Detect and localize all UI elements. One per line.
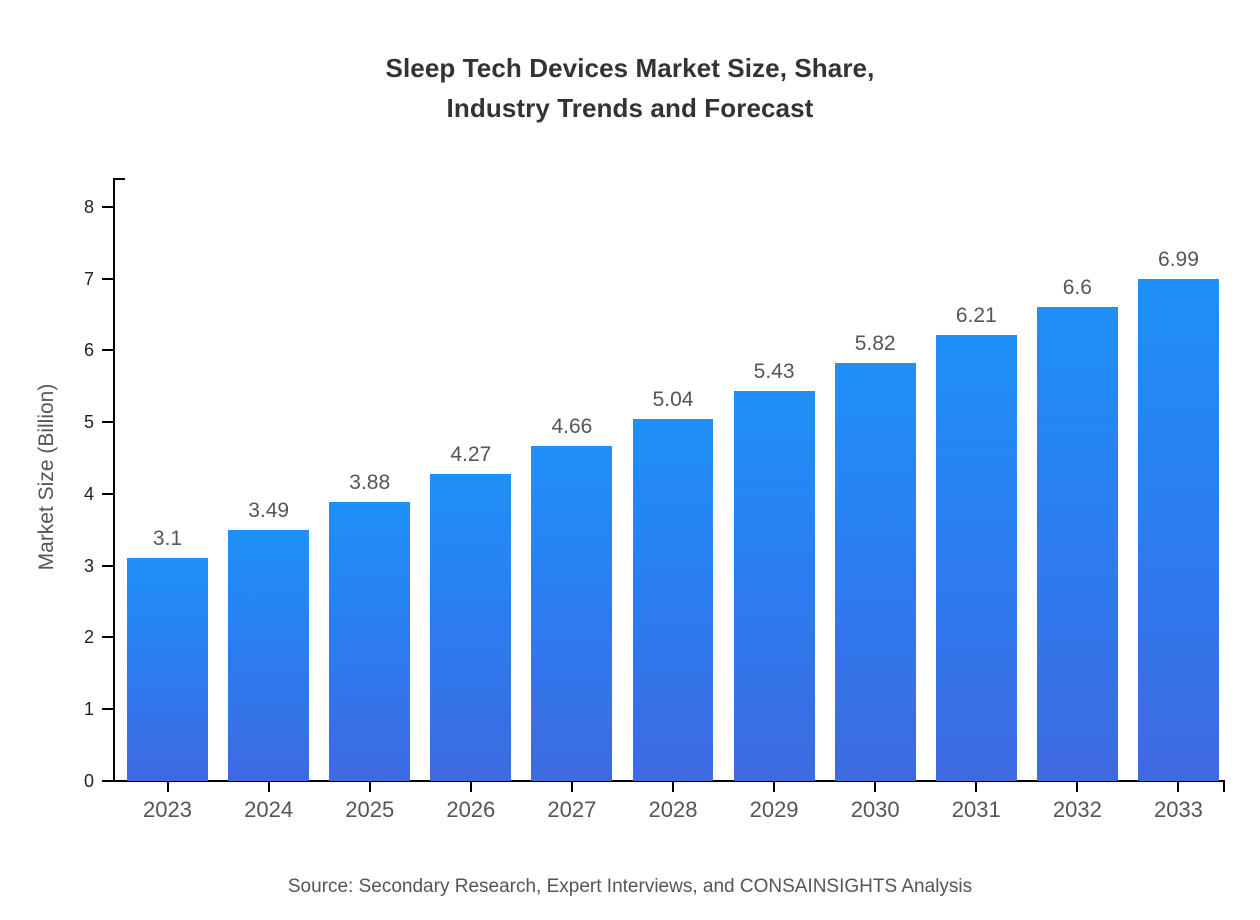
bar-value-label-2032: 6.6: [1017, 275, 1137, 301]
chart-title: Sleep Tech Devices Market Size, Share, I…: [0, 48, 1260, 128]
source-note: Source: Secondary Research, Expert Inter…: [0, 876, 1260, 898]
bar-2029[interactable]: [734, 391, 815, 781]
x-tick-label-2026: 2026: [416, 795, 526, 825]
bar-2024[interactable]: [228, 530, 309, 781]
bar-2027[interactable]: [531, 446, 612, 781]
y-tick-label: 7: [60, 267, 94, 291]
bar-value-label-2023: 3.1: [108, 526, 228, 552]
x-tick-mark-2025: [369, 782, 371, 792]
y-tick-label: 8: [60, 195, 94, 219]
y-tick-mark: [102, 349, 113, 351]
bar-2026[interactable]: [430, 474, 511, 781]
x-tick-label-2025: 2025: [315, 795, 425, 825]
chart-figure: Sleep Tech Devices Market Size, Share, I…: [0, 0, 1260, 920]
x-tick-mark-2030: [874, 782, 876, 792]
y-tick-mark: [102, 636, 113, 638]
x-tick-mark-2029: [773, 782, 775, 792]
bar-value-label-2029: 5.43: [714, 359, 834, 385]
y-tick-mark: [102, 493, 113, 495]
bar-value-label-2031: 6.21: [916, 303, 1036, 329]
x-tick-mark-2032: [1076, 782, 1078, 792]
x-tick-mark-2028: [672, 782, 674, 792]
y-axis-top-cap: [113, 178, 125, 180]
bar-value-label-2024: 3.49: [209, 498, 329, 524]
bar-2032[interactable]: [1037, 307, 1118, 781]
bar-value-label-2033: 6.99: [1118, 247, 1238, 273]
bar-2033[interactable]: [1138, 279, 1219, 781]
x-tick-label-2031: 2031: [921, 795, 1031, 825]
y-tick-mark: [102, 780, 113, 782]
chart-title-line-2: Industry Trends and Forecast: [0, 88, 1260, 128]
bar-value-label-2026: 4.27: [411, 442, 531, 468]
bar-value-label-2025: 3.88: [310, 470, 430, 496]
y-tick-label: 5: [60, 410, 94, 434]
y-tick-mark: [102, 206, 113, 208]
x-tick-label-2033: 2033: [1123, 795, 1233, 825]
bar-value-label-2030: 5.82: [815, 331, 935, 357]
x-tick-label-2028: 2028: [618, 795, 728, 825]
y-tick-mark: [102, 565, 113, 567]
x-tick-mark-2031: [975, 782, 977, 792]
bar-2031[interactable]: [936, 335, 1017, 781]
y-tick-label: 6: [60, 338, 94, 362]
y-tick-label: 3: [60, 554, 94, 578]
x-tick-label-2029: 2029: [719, 795, 829, 825]
y-tick-mark: [102, 708, 113, 710]
y-tick-label: 0: [60, 769, 94, 793]
chart-title-line-1: Sleep Tech Devices Market Size, Share,: [0, 48, 1260, 88]
bar-2028[interactable]: [633, 419, 714, 781]
y-tick-label: 2: [60, 625, 94, 649]
x-tick-label-2024: 2024: [214, 795, 324, 825]
x-tick-mark-2024: [268, 782, 270, 792]
x-tick-label-2027: 2027: [517, 795, 627, 825]
y-tick-label: 4: [60, 482, 94, 506]
bar-2025[interactable]: [329, 502, 410, 781]
x-tick-mark-2026: [470, 782, 472, 792]
bar-value-label-2028: 5.04: [613, 387, 733, 413]
x-tick-label-2032: 2032: [1022, 795, 1132, 825]
bar-2023[interactable]: [127, 558, 208, 781]
bar-2030[interactable]: [835, 363, 916, 781]
x-tick-label-2030: 2030: [820, 795, 930, 825]
x-tick-mark-2027: [571, 782, 573, 792]
y-axis-label: Market Size (Billion): [35, 177, 59, 777]
y-tick-label: 1: [60, 697, 94, 721]
x-axis-right-cap: [1223, 780, 1225, 792]
y-tick-mark: [102, 421, 113, 423]
y-tick-mark: [102, 278, 113, 280]
bar-value-label-2027: 4.66: [512, 414, 632, 440]
y-axis-spine: [113, 178, 115, 782]
x-tick-mark-2023: [167, 782, 169, 792]
x-tick-mark-2033: [1177, 782, 1179, 792]
x-tick-label-2023: 2023: [113, 795, 223, 825]
